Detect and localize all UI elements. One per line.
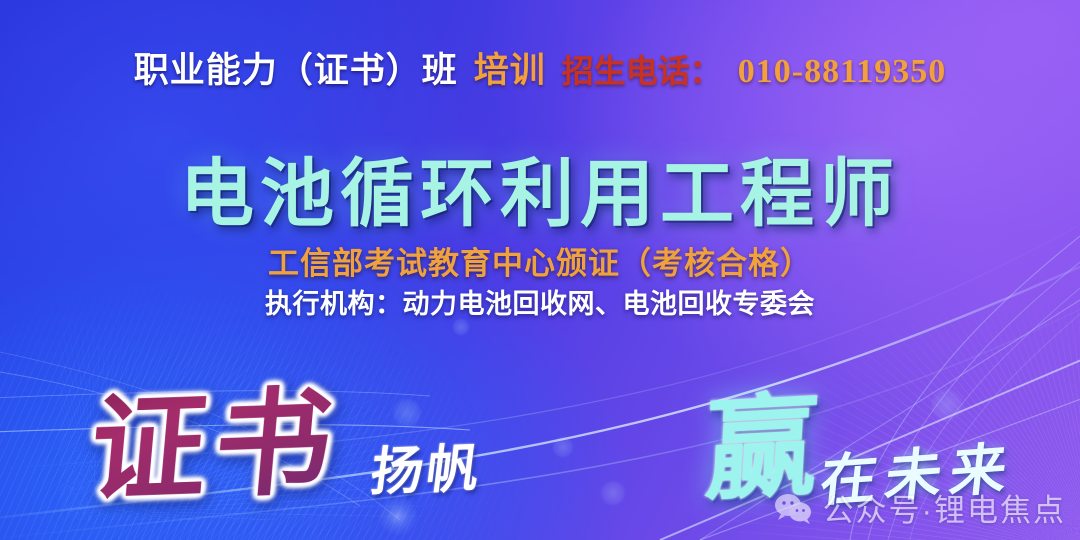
bokeh-dot <box>930 388 964 422</box>
phone-number: 010-88119350 <box>738 53 946 91</box>
watermark: 公众号·锂电焦点 <box>773 485 1066 530</box>
training-label: 培训 <box>474 42 546 93</box>
organizer-line: 执行机构：动力电池回收网、电池回收专委会 <box>0 282 1080 321</box>
calligraphy-left-secondary: 扬帆 <box>367 426 487 505</box>
poster-canvas: 职业能力（证书）班 培训 招生电话： 010-88119350 电池循环利用工程… <box>0 0 1080 540</box>
page-title: 电池循环利用工程师 <box>0 134 1080 241</box>
bokeh-dot <box>392 398 422 428</box>
bokeh-dot <box>552 436 574 458</box>
calligraphy-left-primary: 证书 <box>84 348 348 525</box>
wechat-icon <box>773 491 813 525</box>
certifier-line: 工信部考试教育中心颁证（考核合格） <box>0 238 1080 283</box>
phone-label: 招生电话： <box>562 46 722 92</box>
watermark-text: 公众号·锂电焦点 <box>823 485 1066 530</box>
course-label: 职业能力（证书）班 <box>134 42 458 93</box>
headline-row: 职业能力（证书）班 培训 招生电话： 010-88119350 <box>0 42 1080 93</box>
bokeh-dot <box>600 480 626 506</box>
